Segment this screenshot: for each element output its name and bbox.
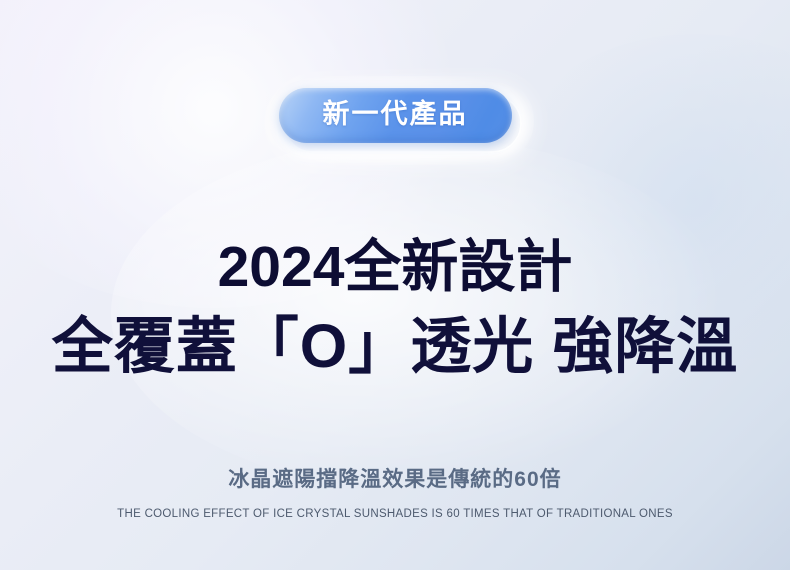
badge-shell: 新一代產品 — [279, 88, 512, 143]
headline-block: 2024全新設計 全覆蓋「O」透光 強降溫 — [0, 236, 790, 381]
headline-line-1: 2024全新設計 — [0, 236, 790, 300]
new-generation-product-badge[interactable]: 新一代產品 — [279, 88, 512, 143]
promo-banner: 新一代產品 2024全新設計 全覆蓋「O」透光 強降溫 冰晶遮陽擋降溫效果是傳統… — [0, 0, 790, 570]
headline-line-2: 全覆蓋「O」透光 強降溫 — [0, 312, 790, 382]
subtitle-chinese: 冰晶遮陽擋降溫效果是傳統的60倍 — [0, 466, 790, 493]
subtitle-block: 冰晶遮陽擋降溫效果是傳統的60倍 THE COOLING EFFECT OF I… — [0, 466, 790, 522]
subtitle-english: THE COOLING EFFECT OF ICE CRYSTAL SUNSHA… — [0, 507, 790, 522]
banner-content: 新一代產品 2024全新設計 全覆蓋「O」透光 強降溫 冰晶遮陽擋降溫效果是傳統… — [0, 0, 790, 570]
badge-container: 新一代產品 — [0, 88, 790, 143]
